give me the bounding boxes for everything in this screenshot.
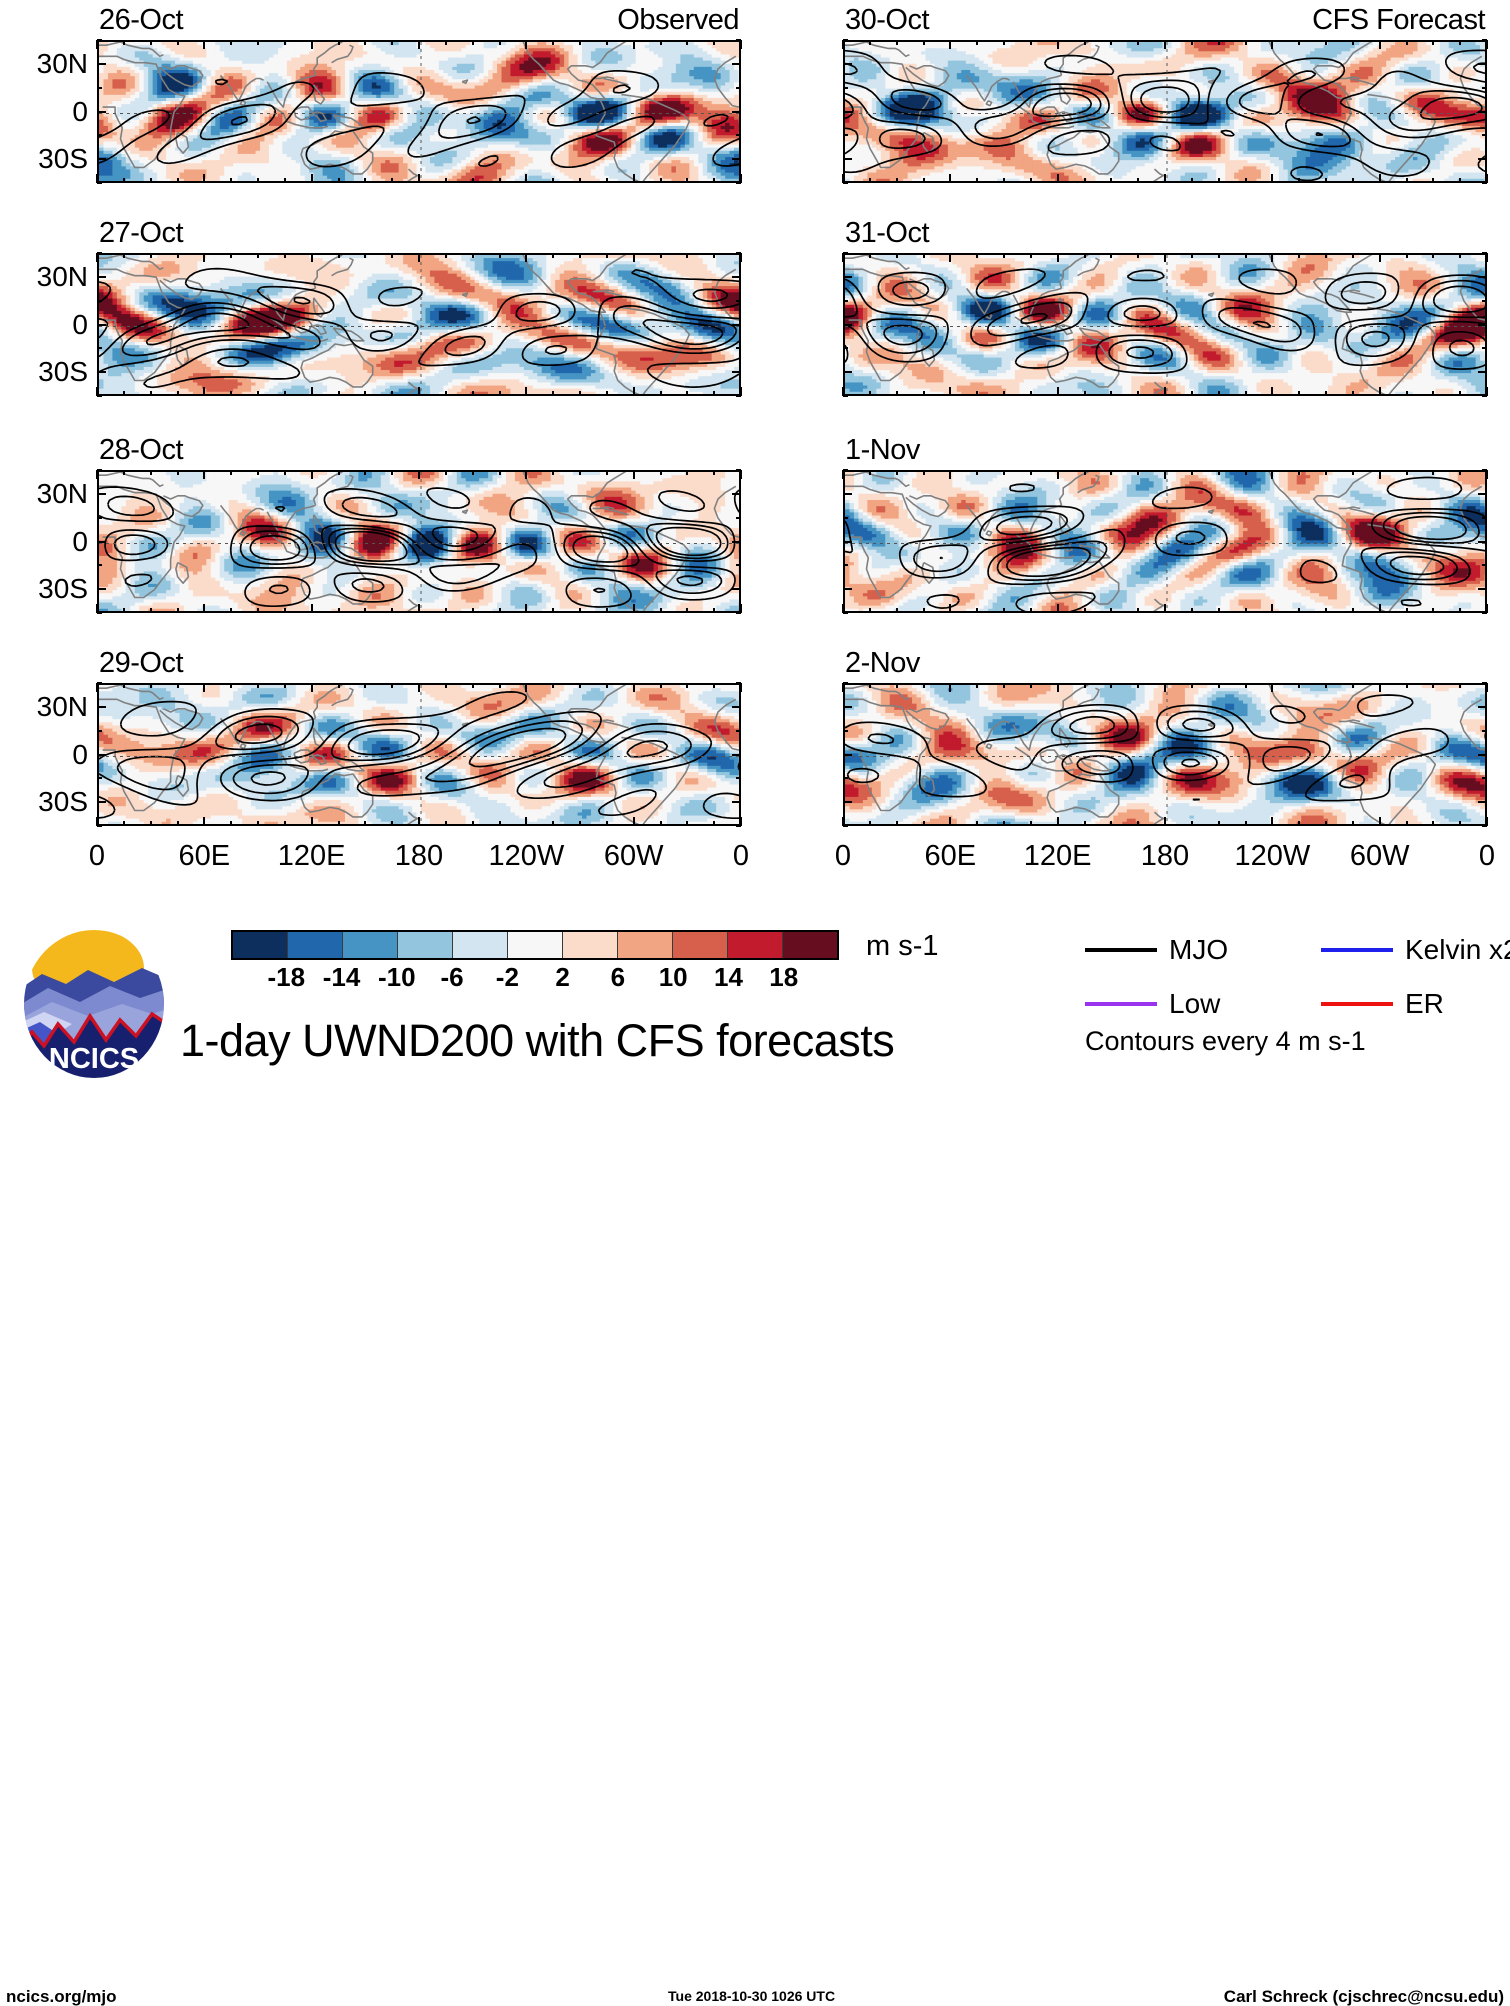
x-axis-tick [284, 683, 286, 688]
shaded-anomaly-field [99, 472, 741, 613]
y-axis-tick-label: 30N [37, 693, 88, 721]
x-axis-tick [606, 391, 608, 396]
x-axis-tick [203, 40, 205, 49]
y-axis-tick [843, 754, 852, 756]
x-axis-tick [96, 470, 98, 479]
y-axis-tick [732, 541, 741, 543]
x-axis-tick-label: 120W [1234, 842, 1310, 871]
x-axis-tick [842, 253, 844, 262]
y-axis-tick-label: 30S [38, 788, 88, 816]
x-axis-tick [869, 178, 871, 183]
x-axis-tick [1271, 604, 1273, 613]
x-axis-tick [1432, 821, 1434, 826]
y-axis-tick [1482, 517, 1487, 519]
y-axis-tick [843, 134, 848, 136]
x-axis-tick [472, 821, 474, 826]
x-axis-tick [338, 391, 340, 396]
colorbar-tick-label: -2 [496, 964, 519, 990]
y-axis-tick [97, 493, 106, 495]
y-axis-tick [1482, 682, 1487, 684]
y-axis-tick [843, 541, 852, 543]
x-axis-tick [123, 608, 125, 613]
x-axis-tick [1030, 40, 1032, 45]
y-axis-tick [843, 588, 852, 590]
x-axis-tick [1191, 683, 1193, 688]
x-axis-tick [869, 253, 871, 258]
footer-website[interactable]: ncics.org/mjo [6, 1988, 117, 2005]
legend-item-kelvin-x2: Kelvin x2 [1321, 936, 1510, 964]
y-axis-tick [736, 252, 741, 254]
x-axis-tick [418, 387, 420, 396]
y-axis-tick [1478, 706, 1487, 708]
x-axis-tick [579, 40, 581, 45]
x-axis-tick [660, 470, 662, 475]
y-axis-tick [736, 347, 741, 349]
x-axis-tick [96, 253, 98, 262]
x-axis-tick [525, 387, 527, 396]
y-axis-tick [843, 777, 848, 779]
x-axis-tick [1325, 608, 1327, 613]
x-axis-tick [338, 470, 340, 475]
x-axis-tick [1110, 178, 1112, 183]
x-axis-tick [896, 178, 898, 183]
x-axis-tick [1298, 470, 1300, 475]
y-axis-tick [1482, 182, 1487, 184]
x-axis-tick [1406, 821, 1408, 826]
map-panel-31-oct: 31-Oct [843, 253, 1487, 396]
x-axis-tick [1030, 470, 1032, 475]
x-axis-tick [1271, 40, 1273, 49]
x-axis-tick-label: 180 [395, 842, 443, 871]
map-plot-area [97, 683, 741, 826]
colorbar-tick-label: 6 [611, 964, 625, 990]
x-axis-tick [1164, 174, 1166, 183]
x-axis-tick [1164, 40, 1166, 49]
y-axis-tick [736, 777, 741, 779]
x-axis-tick [923, 253, 925, 258]
x-axis-tick [203, 387, 205, 396]
x-axis-tick [230, 821, 232, 826]
x-axis-tick [633, 174, 635, 183]
x-axis-tick [1003, 178, 1005, 183]
x-axis-tick [418, 470, 420, 479]
map-plot-area [843, 40, 1487, 183]
y-axis-tick [736, 39, 741, 41]
x-axis-tick [552, 608, 554, 613]
legend-line-swatch [1321, 1002, 1393, 1006]
x-axis-tick [1084, 608, 1086, 613]
y-axis-tick [736, 612, 741, 614]
x-axis-tick [150, 683, 152, 688]
x-axis-tick [1352, 470, 1354, 475]
x-axis-tick [123, 470, 125, 475]
x-axis-tick [525, 817, 527, 826]
y-axis-tick [1482, 300, 1487, 302]
x-axis-tick [1057, 174, 1059, 183]
y-axis-tick [97, 182, 102, 184]
x-axis-tick [1459, 253, 1461, 258]
x-axis-tick [1432, 683, 1434, 688]
y-axis-tick [843, 182, 848, 184]
x-axis-tick [923, 470, 925, 475]
x-axis-tick [364, 821, 366, 826]
x-axis-tick [230, 40, 232, 45]
panel-date-label: 27-Oct [99, 219, 183, 248]
map-panel-1-nov: 1-Nov [843, 470, 1487, 613]
y-axis-tick [843, 347, 848, 349]
x-axis-tick [499, 40, 501, 45]
x-axis-tick [525, 604, 527, 613]
x-axis-tick [1325, 178, 1327, 183]
x-axis-tick [1298, 391, 1300, 396]
x-axis-tick [552, 253, 554, 258]
x-axis-tick [660, 178, 662, 183]
x-axis-tick [525, 40, 527, 49]
y-axis-tick [732, 706, 741, 708]
y-axis-tick [843, 395, 848, 397]
y-axis-tick [97, 276, 106, 278]
ncics-logo: NCICS [18, 928, 170, 1080]
x-axis-tick [1084, 253, 1086, 258]
x-axis-tick [177, 608, 179, 613]
x-axis-tick [1459, 821, 1461, 826]
y-axis-tick [1482, 395, 1487, 397]
x-axis-tick [445, 178, 447, 183]
y-axis-tick [97, 87, 102, 89]
y-axis-tick [97, 706, 106, 708]
x-axis-tick [1245, 821, 1247, 826]
x-axis-tick [1218, 608, 1220, 613]
x-axis-tick [1271, 253, 1273, 262]
y-axis-tick [97, 564, 102, 566]
x-axis-tick [96, 683, 98, 692]
x-axis-tick [713, 40, 715, 45]
y-axis-tick [97, 469, 102, 471]
x-axis-tick [949, 40, 951, 49]
x-axis-tick [230, 470, 232, 475]
x-axis-tick [660, 683, 662, 688]
y-axis-tick-label: 0 [72, 311, 88, 339]
x-axis-tick [1164, 683, 1166, 692]
y-axis-tick [1478, 158, 1487, 160]
x-axis-tick [579, 608, 581, 613]
x-axis-tick [1352, 40, 1354, 45]
colorbar-tick-label: 18 [769, 964, 798, 990]
y-axis-tick [97, 300, 102, 302]
colorbar-swatch [343, 932, 398, 958]
x-axis-tick [1432, 40, 1434, 45]
x-axis-tick [177, 178, 179, 183]
x-axis-tick [257, 821, 259, 826]
x-axis-tick-label: 120E [1024, 842, 1092, 871]
x-axis-tick [606, 683, 608, 688]
x-axis-tick [976, 178, 978, 183]
map-plot-area [843, 470, 1487, 613]
x-axis-tick [418, 604, 420, 613]
x-axis-tick [123, 821, 125, 826]
x-axis-tick [1084, 821, 1086, 826]
colorbar-swatch [563, 932, 618, 958]
x-axis-tick [525, 683, 527, 692]
x-axis-tick [391, 470, 393, 475]
colorbar-swatch [673, 932, 728, 958]
x-axis-tick [311, 174, 313, 183]
x-axis-tick [1459, 40, 1461, 45]
x-axis-tick [923, 391, 925, 396]
x-axis-tick [391, 608, 393, 613]
y-axis-tick [1478, 493, 1487, 495]
y-axis-tick [843, 682, 848, 684]
x-axis-tick [391, 253, 393, 258]
x-axis-tick [1218, 391, 1220, 396]
x-axis-tick [869, 470, 871, 475]
x-axis-tick [552, 391, 554, 396]
x-axis-tick [1271, 683, 1273, 692]
x-axis-tick [1298, 683, 1300, 688]
panel-date-label: 28-Oct [99, 436, 183, 465]
x-axis-tick [660, 253, 662, 258]
x-axis-tick [1459, 470, 1461, 475]
x-axis-tick [150, 253, 152, 258]
panel-date-label: 1-Nov [845, 436, 920, 465]
x-axis-tick [284, 178, 286, 183]
y-axis-tick [843, 111, 852, 113]
y-axis-tick [732, 324, 741, 326]
x-axis-tick [257, 470, 259, 475]
x-axis-tick [1110, 608, 1112, 613]
y-axis-tick [736, 300, 741, 302]
x-axis-tick [311, 817, 313, 826]
x-axis-tick [976, 608, 978, 613]
x-axis-tick [896, 253, 898, 258]
x-axis-tick [1486, 683, 1488, 692]
panel-date-label: 30-Oct [845, 6, 929, 35]
x-axis-tick [606, 821, 608, 826]
x-axis-tick-label: 60E [925, 842, 977, 871]
y-axis-tick [1478, 111, 1487, 113]
x-axis-tick [364, 178, 366, 183]
x-axis-tick [869, 608, 871, 613]
y-axis-tick [843, 39, 848, 41]
x-axis-tick [284, 821, 286, 826]
x-axis-tick [445, 683, 447, 688]
panel-date-label: 2-Nov [845, 649, 920, 678]
x-axis-tick [740, 40, 742, 49]
y-axis-tick [843, 324, 852, 326]
y-axis-tick [1478, 276, 1487, 278]
x-axis-tick [1486, 40, 1488, 49]
x-axis-tick [1137, 821, 1139, 826]
y-axis-tick [1478, 371, 1487, 373]
x-axis-tick [1164, 604, 1166, 613]
y-axis-tick [97, 541, 106, 543]
x-axis-tick [923, 40, 925, 45]
x-axis-tick [552, 40, 554, 45]
x-axis-tick [499, 391, 501, 396]
x-axis-tick [472, 683, 474, 688]
x-axis-tick [1379, 817, 1381, 826]
x-axis-tick [1110, 253, 1112, 258]
x-axis-tick [311, 604, 313, 613]
x-axis-tick [1003, 683, 1005, 688]
x-axis-tick [1191, 40, 1193, 45]
x-axis-tick [976, 40, 978, 45]
y-axis-tick [97, 517, 102, 519]
x-axis-tick [552, 470, 554, 475]
colorbar-swatch [398, 932, 453, 958]
colorbar-swatch [288, 932, 343, 958]
y-axis-tick [732, 371, 741, 373]
x-axis-tick [257, 178, 259, 183]
y-axis-tick [843, 564, 848, 566]
panel-grid: 26-OctObserved30N030S27-Oct30N030S28-Oct… [0, 0, 1510, 900]
y-axis-tick [732, 754, 741, 756]
x-axis-tick-label: 0 [835, 842, 851, 871]
x-axis-tick [869, 391, 871, 396]
x-axis-tick [338, 683, 340, 688]
footer-author: Carl Schreck (cjschrec@ncsu.edu) [1224, 1988, 1504, 2005]
x-axis-tick [1245, 470, 1247, 475]
x-axis-tick [391, 821, 393, 826]
map-panel-29-oct: 29-Oct30N030S060E120E180120W60W0 [97, 683, 741, 826]
x-axis-tick [177, 821, 179, 826]
x-axis-tick [284, 470, 286, 475]
y-axis-tick [97, 347, 102, 349]
x-axis-tick [1298, 178, 1300, 183]
x-axis-tick [1137, 608, 1139, 613]
map-panel-26-oct: 26-OctObserved30N030S [97, 40, 741, 183]
x-axis-tick [284, 253, 286, 258]
x-axis-tick [686, 40, 688, 45]
y-axis-tick [736, 517, 741, 519]
x-axis-tick [418, 174, 420, 183]
legend-item-er: ER [1321, 990, 1444, 1018]
x-axis-tick [606, 470, 608, 475]
x-axis-tick [1432, 253, 1434, 258]
x-axis-tick-label: 0 [733, 842, 749, 871]
x-axis-tick [1432, 178, 1434, 183]
y-axis-tick [1478, 541, 1487, 543]
x-axis-tick [257, 253, 259, 258]
y-axis-tick [732, 588, 741, 590]
x-axis-tick [472, 40, 474, 45]
x-axis-tick [949, 387, 951, 396]
y-axis-tick [843, 63, 852, 65]
panel-date-label: 29-Oct [99, 649, 183, 678]
colorbar-tick-label: 2 [555, 964, 569, 990]
x-axis-tick [579, 683, 581, 688]
x-axis-tick [311, 387, 313, 396]
map-panel-27-oct: 27-Oct30N030S [97, 253, 741, 396]
x-axis-tick [1003, 391, 1005, 396]
x-axis-tick [472, 470, 474, 475]
x-axis-tick [1298, 821, 1300, 826]
figure-title: 1-day UWND200 with CFS forecasts [180, 1018, 894, 1063]
y-axis-tick-label: 0 [72, 741, 88, 769]
x-axis-tick [203, 253, 205, 262]
x-axis-tick [976, 470, 978, 475]
x-axis-tick [1003, 608, 1005, 613]
contour-interval-note: Contours every 4 m s-1 [1085, 1028, 1366, 1055]
x-axis-tick [1432, 608, 1434, 613]
x-axis-tick [177, 253, 179, 258]
x-axis-tick [1432, 391, 1434, 396]
x-axis-tick [713, 608, 715, 613]
x-axis-tick [1459, 391, 1461, 396]
x-axis-tick [740, 253, 742, 262]
y-axis-tick [736, 682, 741, 684]
x-axis-tick [499, 253, 501, 258]
y-axis-tick [843, 730, 848, 732]
x-axis-tick [976, 391, 978, 396]
x-axis-tick [686, 608, 688, 613]
x-axis-tick [842, 683, 844, 692]
x-axis-tick [1084, 178, 1086, 183]
y-axis-tick [1478, 63, 1487, 65]
x-axis-tick [713, 470, 715, 475]
x-axis-tick [1352, 683, 1354, 688]
x-axis-tick [1057, 604, 1059, 613]
x-axis-tick [579, 821, 581, 826]
x-axis-tick [284, 391, 286, 396]
x-axis-tick [284, 608, 286, 613]
y-axis-tick [843, 371, 852, 373]
y-axis-tick [97, 371, 106, 373]
x-axis-tick [203, 604, 205, 613]
legend-line-swatch [1085, 1002, 1157, 1006]
x-axis-tick [1406, 470, 1408, 475]
x-axis-tick [1084, 391, 1086, 396]
x-axis-tick [713, 683, 715, 688]
x-axis-tick [472, 253, 474, 258]
x-axis-tick [976, 821, 978, 826]
x-axis-tick [230, 683, 232, 688]
y-axis-tick [843, 158, 852, 160]
x-axis-tick [364, 683, 366, 688]
map-plot-area [843, 683, 1487, 826]
x-axis-tick [525, 253, 527, 262]
y-axis-tick [732, 801, 741, 803]
x-axis-tick [1298, 608, 1300, 613]
x-axis-tick [949, 683, 951, 692]
x-axis-tick [1379, 40, 1381, 49]
x-axis-tick [896, 470, 898, 475]
x-axis-tick [1459, 608, 1461, 613]
y-axis-tick [732, 493, 741, 495]
x-axis-tick [686, 253, 688, 258]
y-axis-tick [843, 87, 848, 89]
x-axis-tick [391, 391, 393, 396]
x-axis-tick [1406, 608, 1408, 613]
x-axis-tick [230, 608, 232, 613]
x-axis-tick [686, 178, 688, 183]
x-axis-tick [1218, 178, 1220, 183]
y-axis-tick [1478, 588, 1487, 590]
x-axis-tick [230, 253, 232, 258]
x-axis-tick [123, 40, 125, 45]
x-axis-tick [949, 817, 951, 826]
x-axis-tick [499, 683, 501, 688]
y-axis-tick-label: 0 [72, 98, 88, 126]
x-axis-tick-label: 120E [278, 842, 346, 871]
x-axis-tick [923, 683, 925, 688]
x-axis-tick [1245, 40, 1247, 45]
x-axis-tick [1084, 683, 1086, 688]
y-axis-tick [736, 825, 741, 827]
y-axis-tick [97, 158, 106, 160]
x-axis-tick [1164, 387, 1166, 396]
x-axis-tick [713, 821, 715, 826]
